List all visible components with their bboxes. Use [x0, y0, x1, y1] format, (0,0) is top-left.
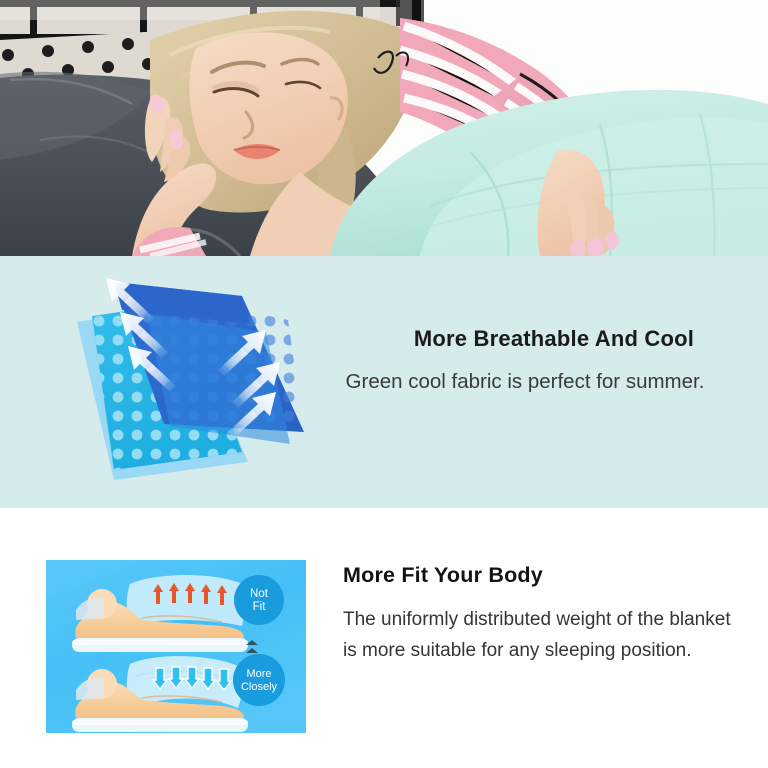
fit-body: The uniformly distributed weight of the … [343, 605, 743, 667]
fit-section: Not Fit [0, 508, 768, 768]
not-fit-badge-line2: Fit [253, 601, 267, 613]
body-fit-svg: Not Fit [46, 560, 306, 733]
not-fit-badge-line1: Not [250, 588, 269, 600]
fit-heading: More Fit Your Body [343, 563, 743, 589]
more-closely-badge-line2: Closely [241, 681, 278, 693]
sleeping-woman-illustration [0, 0, 768, 256]
body-fit-comparison-illustration: Not Fit [46, 560, 306, 733]
breathable-heading: More Breathable And Cool [300, 326, 750, 352]
breathable-section: More Breathable And Cool Green cool fabr… [0, 256, 768, 508]
product-feature-page: More Breathable And Cool Green cool fabr… [0, 0, 768, 768]
more-closely-badge [233, 654, 285, 706]
fabric-layers-illustration [52, 274, 342, 489]
hero-photo [0, 0, 768, 256]
fit-text-block: More Fit Your Body The uniformly distrib… [343, 563, 743, 667]
breathable-text-block: More Breathable And Cool Green cool fabr… [300, 326, 750, 395]
breathable-body: Green cool fabric is perfect for summer. [300, 369, 750, 395]
more-closely-badge-line1: More [246, 668, 271, 680]
fabric-layers-svg [52, 274, 342, 489]
not-fit-badge [234, 575, 284, 625]
